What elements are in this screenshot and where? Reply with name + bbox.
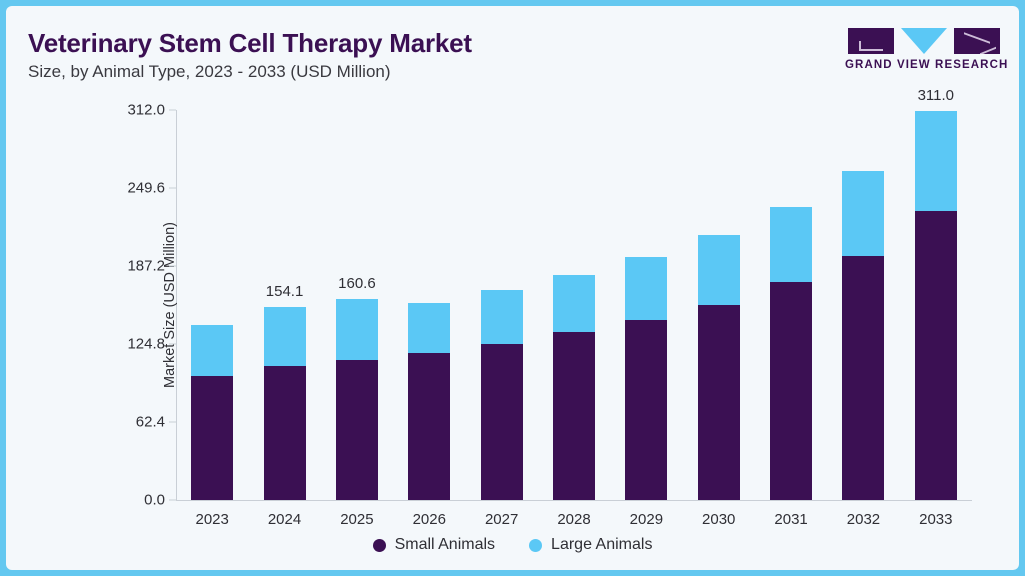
y-axis-tick-label: 249.6 xyxy=(92,180,176,197)
x-axis-tick-label: 2032 xyxy=(847,511,880,528)
bar-segment-small-animals[interactable] xyxy=(264,366,306,500)
bar-value-label: 311.0 xyxy=(918,87,954,104)
bar-segment-small-animals[interactable] xyxy=(481,344,523,500)
bar-group[interactable]: 2029 xyxy=(625,257,667,500)
logo-g-icon xyxy=(848,28,894,54)
bar-group[interactable]: 311.02033 xyxy=(915,111,957,500)
logo-r-icon xyxy=(954,28,1000,54)
bar-segment-large-animals[interactable] xyxy=(770,207,812,282)
x-axis-tick-label: 2025 xyxy=(340,511,373,528)
page-title: Veterinary Stem Cell Therapy Market xyxy=(28,28,472,59)
bar-segment-small-animals[interactable] xyxy=(553,332,595,500)
x-axis-tick-label: 2030 xyxy=(702,511,735,528)
x-axis-tick-label: 2031 xyxy=(774,511,807,528)
bar-segment-small-animals[interactable] xyxy=(770,282,812,500)
bar-segment-large-animals[interactable] xyxy=(553,275,595,333)
plot-area: Market Size (USD Million) 0.062.4124.818… xyxy=(176,110,972,500)
bar-segment-large-animals[interactable] xyxy=(698,235,740,305)
y-axis-tick-mark xyxy=(169,422,176,423)
legend-item[interactable]: Small Animals xyxy=(373,536,495,554)
bar-group[interactable]: 2030 xyxy=(698,235,740,500)
legend-label: Large Animals xyxy=(551,536,652,554)
bar-group[interactable]: 160.62025 xyxy=(336,299,378,500)
bar-value-label: 160.6 xyxy=(338,275,376,292)
bar-group[interactable]: 2026 xyxy=(408,303,450,500)
bar-segment-large-animals[interactable] xyxy=(842,171,884,256)
bar-segment-large-animals[interactable] xyxy=(915,111,957,211)
y-axis-tick-mark xyxy=(169,344,176,345)
x-axis-tick-label: 2024 xyxy=(268,511,301,528)
x-axis-line xyxy=(176,500,972,501)
chart-card: Veterinary Stem Cell Therapy Market Size… xyxy=(6,6,1019,570)
bar-segment-small-animals[interactable] xyxy=(842,256,884,500)
legend-swatch-icon xyxy=(373,539,386,552)
logo-v-icon xyxy=(901,28,947,54)
logo-text: GRAND VIEW RESEARCH xyxy=(845,59,1003,71)
y-axis-tick-mark xyxy=(169,188,176,189)
bar-segment-small-animals[interactable] xyxy=(191,376,233,500)
bar-value-label: 154.1 xyxy=(266,283,304,300)
y-axis-tick-mark xyxy=(169,110,176,111)
y-axis-tick-label: 312.0 xyxy=(92,102,176,119)
y-axis-tick-label: 62.4 xyxy=(92,414,176,431)
legend-label: Small Animals xyxy=(395,536,495,554)
bar-group[interactable]: 2028 xyxy=(553,275,595,500)
bar-segment-large-animals[interactable] xyxy=(191,325,233,375)
bar-segment-small-animals[interactable] xyxy=(336,360,378,500)
x-axis-tick-label: 2028 xyxy=(557,511,590,528)
x-axis-tick-label: 2023 xyxy=(195,511,228,528)
legend-item[interactable]: Large Animals xyxy=(529,536,652,554)
bar-segment-small-animals[interactable] xyxy=(625,320,667,500)
bar-group[interactable]: 2027 xyxy=(481,290,523,500)
bar-segment-small-animals[interactable] xyxy=(698,305,740,500)
y-axis-title: Market Size (USD Million) xyxy=(162,222,178,388)
y-axis-tick-label: 0.0 xyxy=(92,492,176,509)
grand-view-research-logo: GRAND VIEW RESEARCH xyxy=(845,28,1003,71)
bar-segment-large-animals[interactable] xyxy=(408,303,450,353)
bar-segment-large-animals[interactable] xyxy=(481,290,523,344)
x-axis-tick-label: 2029 xyxy=(630,511,663,528)
y-axis-tick-label: 124.8 xyxy=(92,336,176,353)
bar-group[interactable]: 2023 xyxy=(191,325,233,500)
y-axis-tick-label: 187.2 xyxy=(92,258,176,275)
bar-segment-small-animals[interactable] xyxy=(915,211,957,500)
bar-segment-large-animals[interactable] xyxy=(264,307,306,366)
bar-group[interactable]: 2032 xyxy=(842,171,884,500)
bar-segment-large-animals[interactable] xyxy=(336,299,378,360)
x-axis-tick-label: 2026 xyxy=(413,511,446,528)
bar-group[interactable]: 154.12024 xyxy=(264,307,306,500)
logo-marks xyxy=(845,28,1003,54)
bar-segment-large-animals[interactable] xyxy=(625,257,667,320)
y-axis-tick-mark xyxy=(169,500,176,501)
x-axis-tick-label: 2027 xyxy=(485,511,518,528)
legend-swatch-icon xyxy=(529,539,542,552)
chart-legend: Small AnimalsLarge Animals xyxy=(6,536,1019,554)
x-axis-tick-label: 2033 xyxy=(919,511,952,528)
bar-segment-small-animals[interactable] xyxy=(408,353,450,501)
page-subtitle: Size, by Animal Type, 2023 - 2033 (USD M… xyxy=(28,62,391,82)
bar-group[interactable]: 2031 xyxy=(770,207,812,500)
y-axis-tick-mark xyxy=(169,266,176,267)
